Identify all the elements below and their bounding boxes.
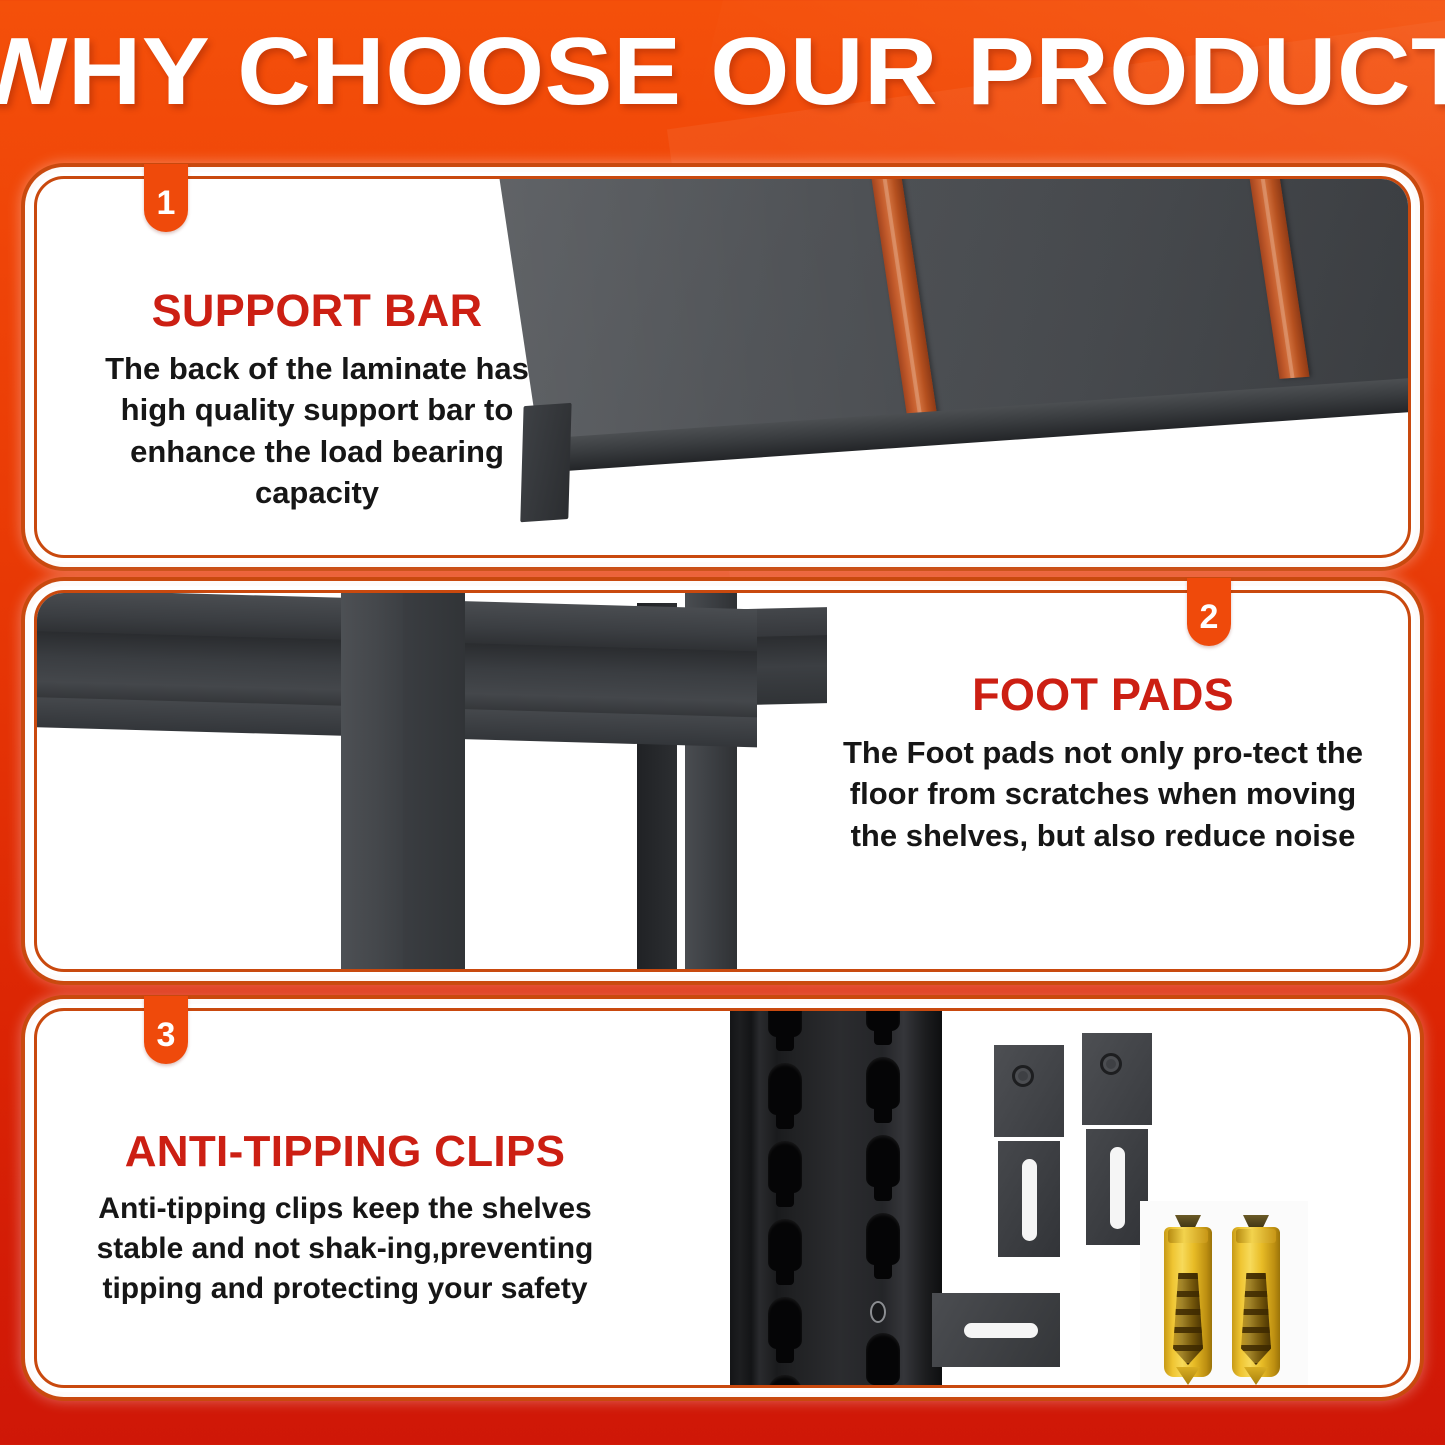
wall-anchor-left xyxy=(1164,1215,1212,1377)
feature-text-block-2: FOOT PADS The Foot pads not only pro-tec… xyxy=(838,671,1368,856)
clip-upper-plate xyxy=(1082,1033,1152,1125)
post-slot xyxy=(866,1011,900,1031)
slotted-upright-post xyxy=(730,1011,942,1385)
shelf-leg-face-left xyxy=(341,593,403,969)
post-slot xyxy=(768,1141,802,1193)
clip-lower-plate xyxy=(998,1141,1060,1257)
feature-number-badge-1: 1 xyxy=(144,164,188,232)
post-rivet xyxy=(870,1301,886,1323)
anti-tipping-illustration xyxy=(708,1011,1408,1385)
feature-card-support-bar: SUPPORT BAR The back of the laminate has… xyxy=(30,172,1415,562)
wall-anchor-group xyxy=(1140,1201,1308,1385)
feature-body-3: Anti-tipping clips keep the shelves stab… xyxy=(65,1189,625,1309)
feature-card-foot-pads: FOOT PADS The Foot pads not only pro-tec… xyxy=(30,586,1415,976)
shelf-leg-face-right xyxy=(403,593,465,969)
post-slot xyxy=(866,1057,900,1109)
feature-heading-1: SUPPORT BAR xyxy=(82,287,552,334)
post-slot xyxy=(866,1333,900,1385)
post-slot xyxy=(768,1375,802,1385)
post-slot xyxy=(768,1297,802,1349)
clip-screw-hole xyxy=(1100,1053,1122,1075)
feature-card-inner: ANTI-TIPPING CLIPS Anti-tipping clips ke… xyxy=(34,1008,1411,1388)
feature-number-badge-3: 3 xyxy=(144,996,188,1064)
feature-card-inner: FOOT PADS The Foot pads not only pro-tec… xyxy=(34,590,1411,972)
post-slot xyxy=(768,1063,802,1115)
feature-heading-2: FOOT PADS xyxy=(838,671,1368,718)
feature-heading-3: ANTI-TIPPING CLIPS xyxy=(65,1129,625,1175)
feature-body-1: The back of the laminate has high qualit… xyxy=(82,348,552,513)
post-slot-column-left xyxy=(760,1011,810,1385)
wall-anchor-right xyxy=(1232,1215,1280,1377)
anchor-fins xyxy=(1241,1273,1271,1365)
anchor-fins xyxy=(1173,1273,1203,1365)
feature-text-block-3: ANTI-TIPPING CLIPS Anti-tipping clips ke… xyxy=(65,1129,625,1309)
anti-tipping-clip-left xyxy=(994,1045,1064,1257)
post-slot-column-right xyxy=(858,1011,908,1385)
clip-upper-plate xyxy=(994,1045,1064,1137)
shelf-leg-front xyxy=(341,593,465,969)
shelf-panel-graphic xyxy=(492,179,1408,555)
post-slot xyxy=(866,1213,900,1265)
page-title: WHY CHOOSE OUR PRODUCT xyxy=(0,22,1445,123)
clip-adjust-slot xyxy=(1022,1159,1037,1241)
clip-adjust-slot xyxy=(964,1323,1038,1338)
post-slot xyxy=(768,1011,802,1037)
clip-adjust-slot xyxy=(1110,1147,1125,1229)
anchor-collar xyxy=(1168,1229,1208,1243)
anchor-collar xyxy=(1236,1229,1276,1243)
post-slot xyxy=(768,1219,802,1271)
support-bar-illustration xyxy=(492,179,1408,555)
foot-pads-illustration xyxy=(37,593,827,969)
feature-text-block-1: SUPPORT BAR The back of the laminate has… xyxy=(82,287,552,513)
feature-card-inner: SUPPORT BAR The back of the laminate has… xyxy=(34,176,1411,558)
feature-number-badge-2: 2 xyxy=(1187,578,1231,646)
feature-body-2: The Foot pads not only pro-tect the floo… xyxy=(838,732,1368,856)
clip-lower-plate xyxy=(1086,1129,1148,1245)
feature-card-anti-tipping-clips: ANTI-TIPPING CLIPS Anti-tipping clips ke… xyxy=(30,1004,1415,1392)
anti-tipping-clip-mounted xyxy=(932,1293,1060,1367)
clip-screw-hole xyxy=(1012,1065,1034,1087)
post-slot xyxy=(866,1135,900,1187)
